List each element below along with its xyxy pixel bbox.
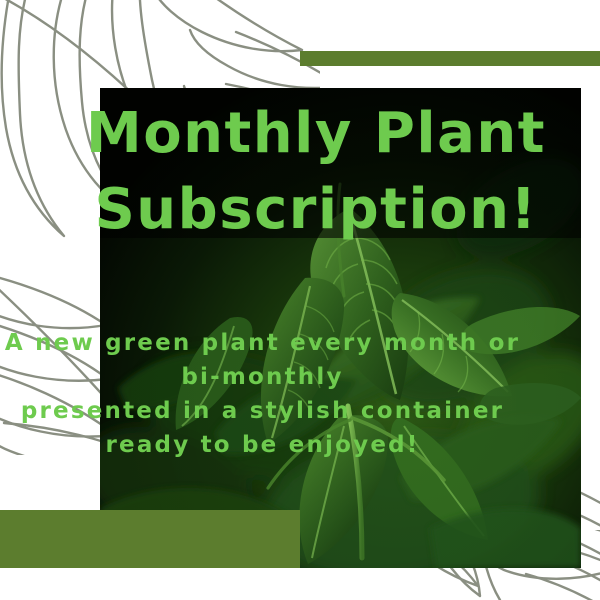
accent-bar-top	[300, 51, 600, 66]
poster-body-copy: A new green plant every month or bi-mont…	[0, 326, 525, 462]
body-line-2: bi-monthly	[0, 360, 525, 394]
poster-canvas: Monthly Plant Subscription! A new green …	[0, 0, 600, 600]
body-line-4: ready to be enjoyed!	[0, 428, 525, 462]
headline-line-2: Subscription!	[56, 172, 576, 248]
body-line-1: A new green plant every month or	[0, 326, 525, 360]
poster-headline: Monthly Plant Subscription!	[56, 96, 576, 248]
accent-bar-bottom-overlay	[100, 510, 300, 568]
headline-line-1: Monthly Plant	[56, 96, 576, 172]
body-line-3: presented in a stylish container	[0, 394, 525, 428]
